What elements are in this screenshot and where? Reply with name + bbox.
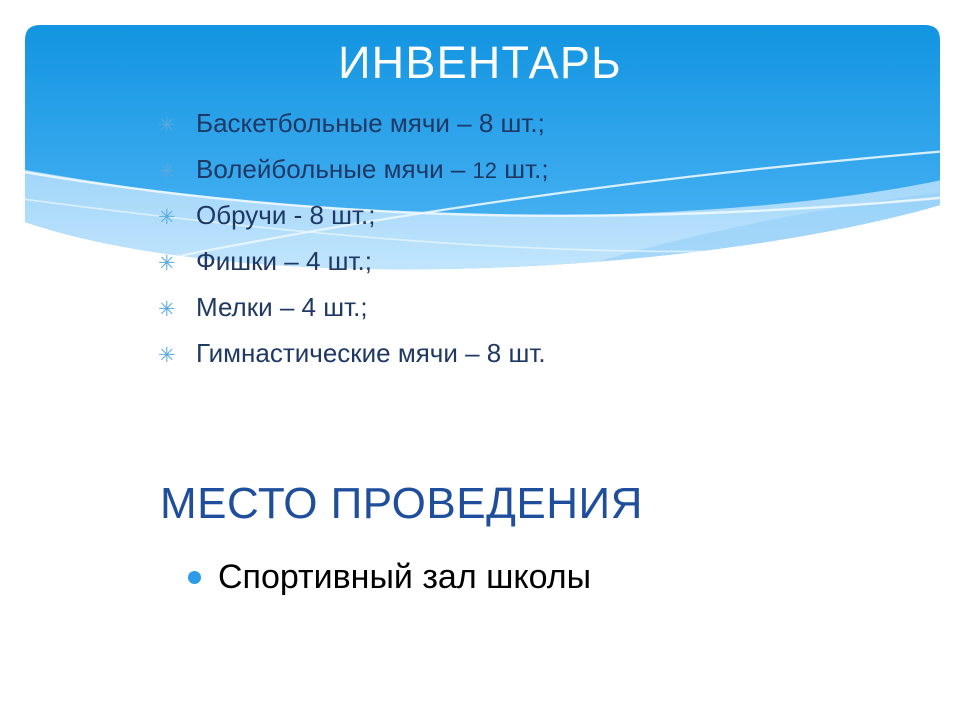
asterisk-bullet-icon: ✳	[158, 149, 196, 195]
list-item-label: Спортивный зал школы	[218, 554, 591, 600]
list-item: ✳ Баскетбольные мячи – 8 шт.;	[158, 100, 798, 146]
list-item: ✳ Обручи - 8 шт.;	[158, 192, 798, 238]
list-item-label: Волейбольные мячи – 12 шт.;	[196, 146, 549, 194]
slide-canvas: ИНВЕНТАРЬ ✳ Баскетбольные мячи – 8 шт.; …	[0, 0, 960, 720]
list-item: ✳ Волейбольные мячи – 12 шт.;	[158, 146, 798, 192]
list-item-label: Фишки – 4 шт.;	[196, 238, 372, 284]
venue-list: Спортивный зал школы	[188, 554, 591, 600]
list-item-label-suffix: шт.;	[497, 154, 549, 184]
list-item: ✳ Фишки – 4 шт.;	[158, 238, 798, 284]
asterisk-bullet-icon: ✳	[158, 241, 196, 287]
page-title: ИНВЕНТАРЬ	[0, 40, 960, 85]
list-item-label: Обручи - 8 шт.;	[196, 192, 375, 238]
list-item-label: Гимнастические мячи – 8 шт.	[196, 330, 546, 376]
list-item-label: Баскетбольные мячи – 8 шт.;	[196, 100, 545, 146]
list-item-label: Мелки – 4 шт.;	[196, 284, 368, 330]
dot-bullet-icon	[188, 571, 218, 584]
section-heading-venue: МЕСТО ПРОВЕДЕНИЯ	[160, 482, 643, 526]
asterisk-bullet-icon: ✳	[158, 195, 196, 241]
inventory-list: ✳ Баскетбольные мячи – 8 шт.; ✳ Волейбол…	[158, 100, 798, 376]
asterisk-bullet-icon: ✳	[158, 287, 196, 333]
list-item: ✳ Мелки – 4 шт.;	[158, 284, 798, 330]
asterisk-bullet-icon: ✳	[158, 103, 196, 149]
list-item: Спортивный зал школы	[188, 554, 591, 600]
list-item: ✳ Гимнастические мячи – 8 шт.	[158, 330, 798, 376]
asterisk-bullet-icon: ✳	[158, 333, 196, 379]
list-item-label-main: Волейбольные мячи –	[196, 154, 473, 184]
list-item-quantity: 12	[473, 158, 497, 183]
